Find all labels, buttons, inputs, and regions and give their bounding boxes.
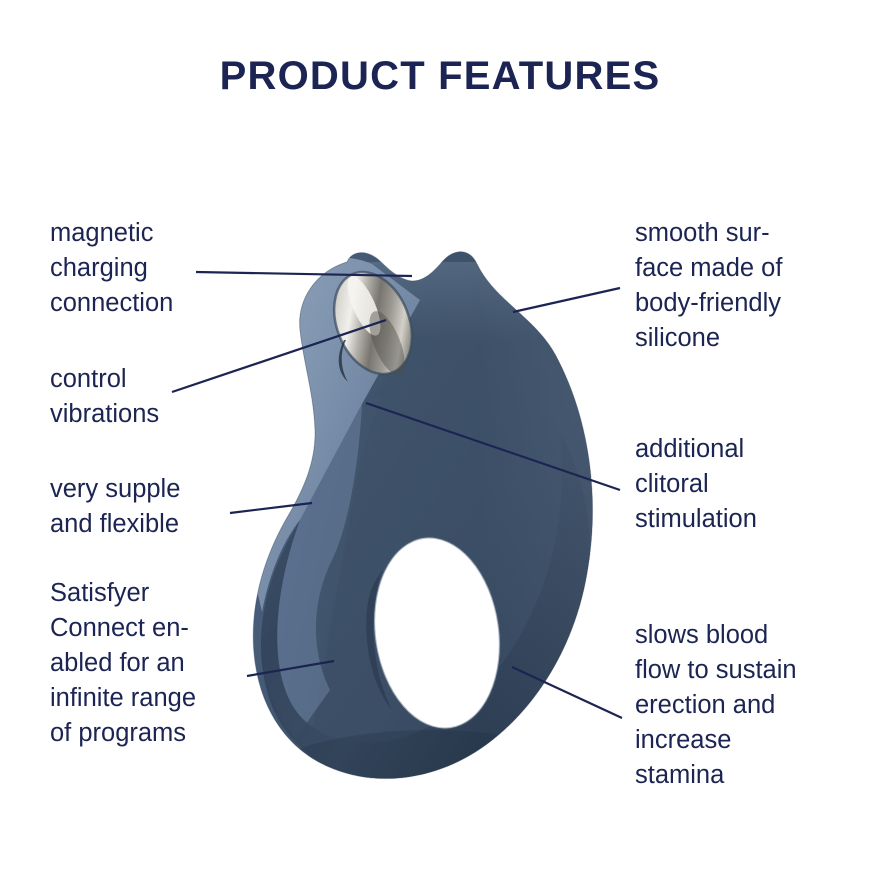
product-illustration xyxy=(0,0,880,880)
product-features-infographic: PRODUCT FEATURES xyxy=(0,0,880,880)
